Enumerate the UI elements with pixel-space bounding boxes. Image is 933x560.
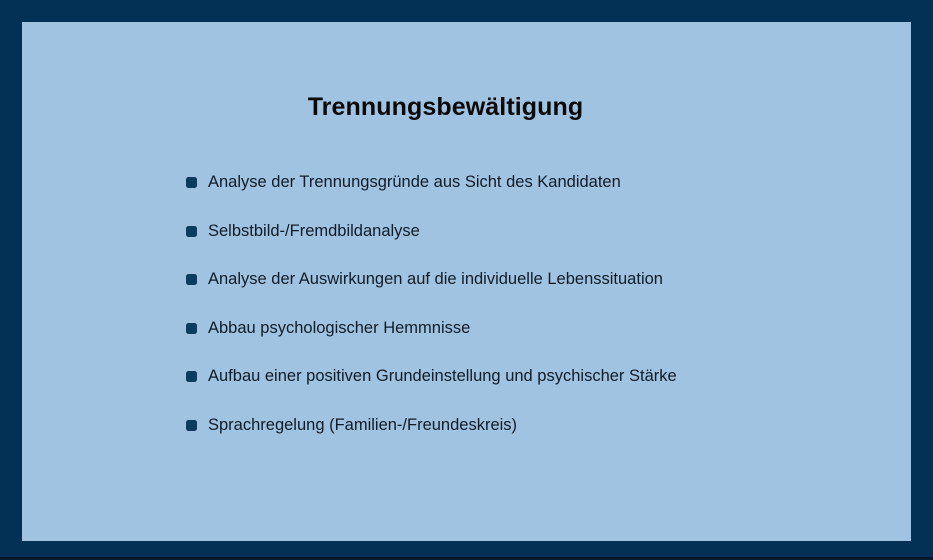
filled-rounded-square-bullet-icon — [186, 371, 197, 382]
slide-frame: Trennungsbewältigung Analyse der Trennun… — [0, 0, 933, 560]
list-item-label: Aufbau einer positiven Grundeinstellung … — [208, 364, 886, 388]
bullet-list: Analyse der Trennungsgründe aus Sicht de… — [186, 170, 886, 462]
list-item: Selbstbild-/Fremdbildanalyse — [186, 219, 886, 268]
filled-rounded-square-bullet-icon — [186, 177, 197, 188]
slide-title: Trennungsbewältigung — [22, 92, 911, 122]
list-item-label: Sprachregelung (Familien-/Freundeskreis) — [208, 413, 886, 437]
list-item-label: Analyse der Auswirkungen auf die individ… — [208, 267, 886, 291]
list-item-label: Abbau psychologischer Hemmnisse — [208, 316, 886, 340]
filled-rounded-square-bullet-icon — [186, 226, 197, 237]
list-item: Sprachregelung (Familien-/Freundeskreis) — [186, 413, 886, 462]
list-item-label: Selbstbild-/Fremdbildanalyse — [208, 219, 886, 243]
list-item: Aufbau einer positiven Grundeinstellung … — [186, 364, 886, 413]
list-item: Analyse der Trennungsgründe aus Sicht de… — [186, 170, 886, 219]
filled-rounded-square-bullet-icon — [186, 420, 197, 431]
filled-rounded-square-bullet-icon — [186, 323, 197, 334]
filled-rounded-square-bullet-icon — [186, 274, 197, 285]
list-item: Abbau psychologischer Hemmnisse — [186, 316, 886, 365]
slide-title-text: Trennungsbewältigung — [308, 92, 584, 122]
list-item: Analyse der Auswirkungen auf die individ… — [186, 267, 886, 316]
list-item-label: Analyse der Trennungsgründe aus Sicht de… — [208, 170, 886, 194]
slide-content-panel: Trennungsbewältigung Analyse der Trennun… — [22, 22, 911, 541]
